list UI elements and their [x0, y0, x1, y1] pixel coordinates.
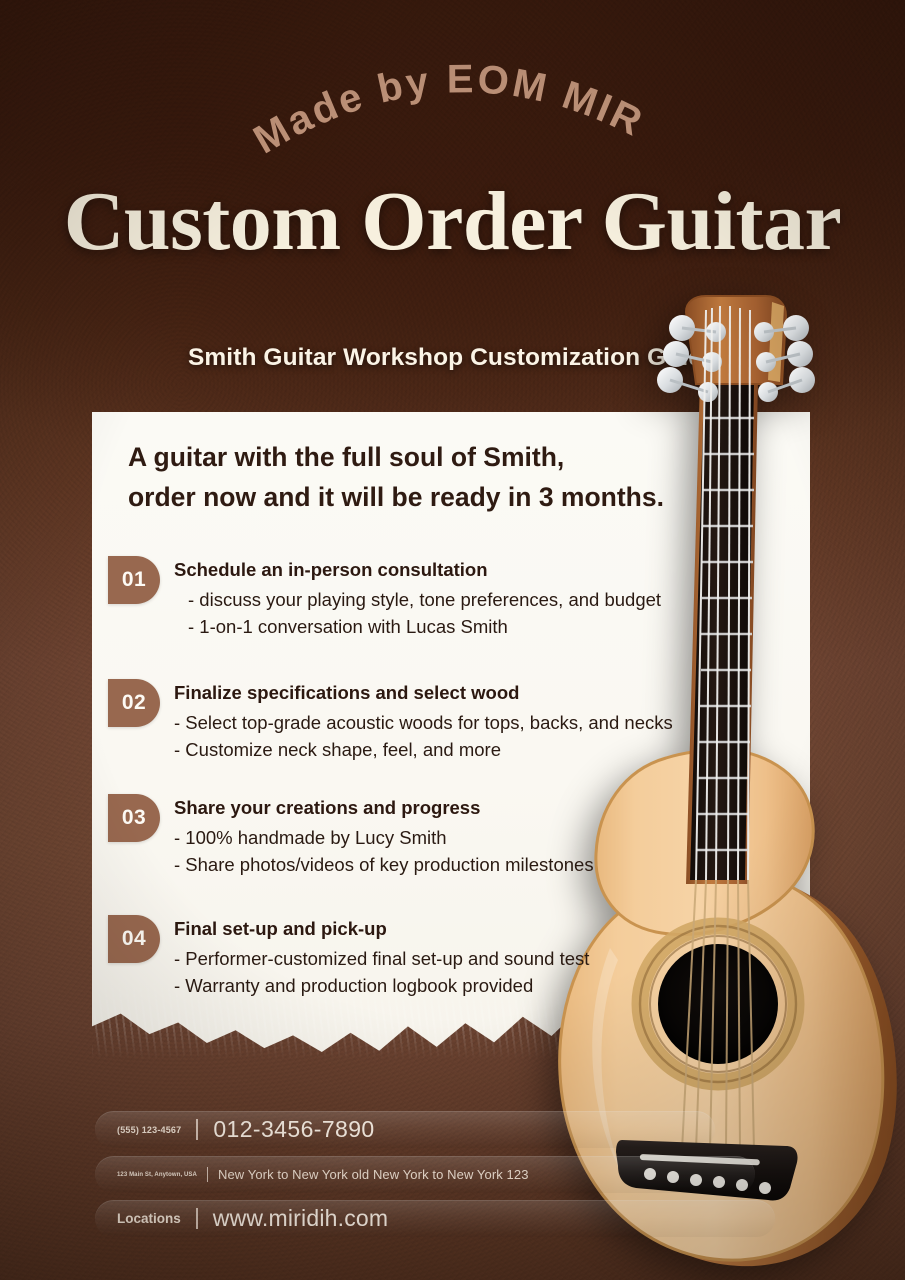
poster-canvas: Made by EOM MIRI Custom Order Guitar Smi… [0, 0, 905, 1280]
step-line-03-1: - 100% handmade by Lucy Smith [174, 824, 594, 851]
step-badge-02: 02 [108, 679, 160, 727]
step-body-02: Finalize specifications and select wood … [174, 679, 673, 763]
contact-tag-address: 123 Main St, Anytown, USA [117, 1172, 197, 1178]
step-line-02-1: - Select top-grade acoustic woods for to… [174, 709, 673, 736]
arc-brand-text: Made by EOM MIRI [0, 22, 905, 152]
contact-bar-phone[interactable]: (555) 123-4567 012-3456-7890 [95, 1111, 715, 1148]
contact-bar-website[interactable]: Locations www.miridih.com [95, 1200, 775, 1237]
contact-value-address: New York to New York old New York to New… [218, 1167, 529, 1182]
step-body-03: Share your creations and progress - 100%… [174, 794, 594, 878]
step-title-03: Share your creations and progress [174, 796, 594, 821]
divider-icon [196, 1208, 198, 1229]
step-line-04-2: - Warranty and production logbook provid… [174, 972, 589, 999]
step-badge-03: 03 [108, 794, 160, 842]
step-item-04: 04 Final set-up and pick-up - Performer-… [108, 915, 798, 999]
intro-text: A guitar with the full soul of Smith, or… [128, 437, 728, 518]
divider-icon [207, 1167, 208, 1182]
page-title: Custom Order Guitar [0, 180, 905, 264]
intro-line-2: order now and it will be ready in 3 mont… [128, 477, 728, 517]
step-title-02: Finalize specifications and select wood [174, 681, 673, 706]
contact-tag-locations: Locations [117, 1211, 181, 1226]
contact-value-website: www.miridih.com [213, 1205, 389, 1232]
step-item-03: 03 Share your creations and progress - 1… [108, 794, 798, 878]
contact-value-phone: 012-3456-7890 [213, 1116, 374, 1143]
step-item-02: 02 Finalize specifications and select wo… [108, 679, 798, 763]
page-subtitle: Smith Guitar Workshop Customization Guid… [0, 344, 905, 372]
step-item-01: 01 Schedule an in-person consultation - … [108, 556, 798, 640]
divider-icon [196, 1119, 198, 1140]
step-body-01: Schedule an in-person consultation - dis… [174, 556, 661, 640]
contact-bar-address[interactable]: 123 Main St, Anytown, USA New York to Ne… [95, 1156, 755, 1193]
step-body-04: Final set-up and pick-up - Performer-cus… [174, 915, 589, 999]
step-line-01-1: - discuss your playing style, tone prefe… [174, 586, 661, 613]
step-line-02-2: - Customize neck shape, feel, and more [174, 736, 673, 763]
step-line-01-2: - 1-on-1 conversation with Lucas Smith [174, 613, 661, 640]
step-badge-04: 04 [108, 915, 160, 963]
step-line-04-1: - Performer-customized final set-up and … [174, 945, 589, 972]
step-title-04: Final set-up and pick-up [174, 917, 589, 942]
arc-brand-label: Made by EOM MIRI [0, 0, 651, 162]
step-title-01: Schedule an in-person consultation [174, 558, 661, 583]
intro-line-1: A guitar with the full soul of Smith, [128, 437, 728, 477]
step-badge-01: 01 [108, 556, 160, 604]
step-line-03-2: - Share photos/videos of key production … [174, 851, 594, 878]
contact-tag-phone: (555) 123-4567 [117, 1125, 181, 1135]
